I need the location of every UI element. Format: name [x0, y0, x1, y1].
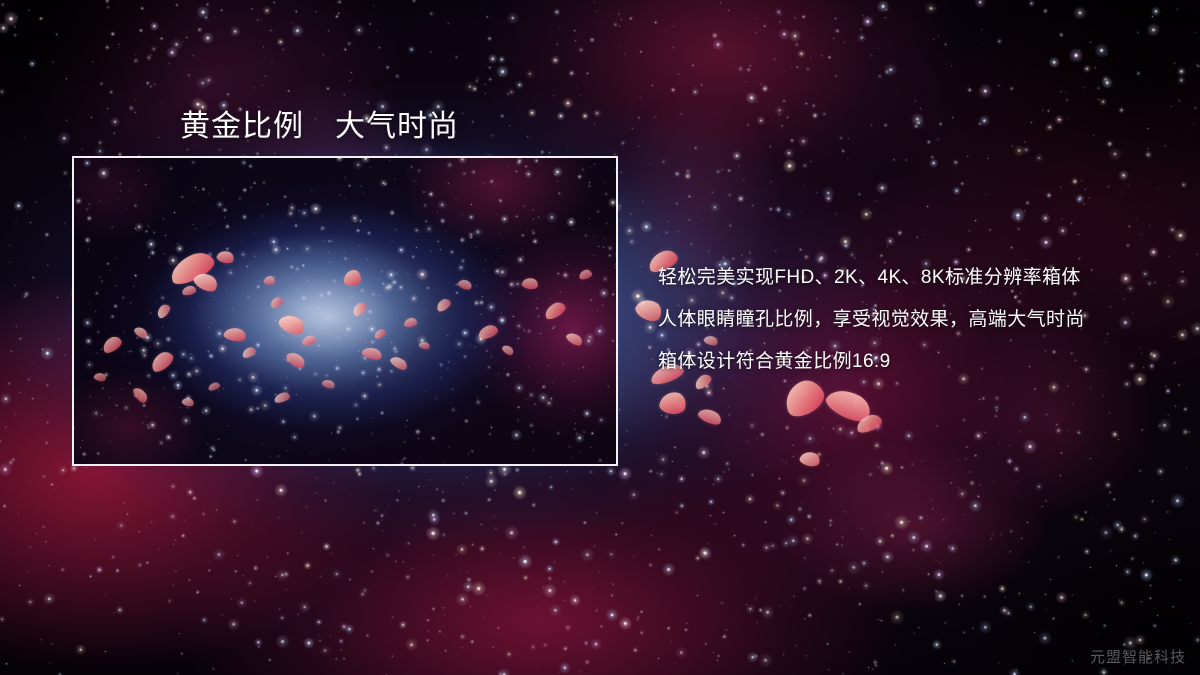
frame-starfield — [74, 158, 618, 466]
framed-galaxy-image — [72, 156, 618, 466]
petal — [823, 383, 876, 428]
body-copy-line-2: 人体眼睛瞳孔比例，享受视觉效果，高端大气时尚 — [658, 299, 1085, 341]
petal — [798, 450, 821, 469]
body-copy-line-1: 轻松完美实现FHD、2K、4K、8K标准分辨率箱体 — [658, 257, 1085, 299]
watermark: 元盟智能科技 — [1090, 646, 1186, 667]
page-title: 黄金比例 大气时尚 — [180, 101, 459, 145]
petal — [658, 390, 688, 417]
body-copy: 轻松完美实现FHD、2K、4K、8K标准分辨率箱体 人体眼睛瞳孔比例，享受视觉效… — [658, 257, 1085, 383]
petal — [854, 412, 884, 435]
body-copy-line-3: 箱体设计符合黄金比例16:9 — [658, 341, 1085, 383]
presentation-slide: 黄金比例 大气时尚 轻松完美实现FHD、2K、4K、8K标准分辨率箱体 人体眼睛… — [0, 0, 1200, 675]
petal — [696, 405, 723, 427]
